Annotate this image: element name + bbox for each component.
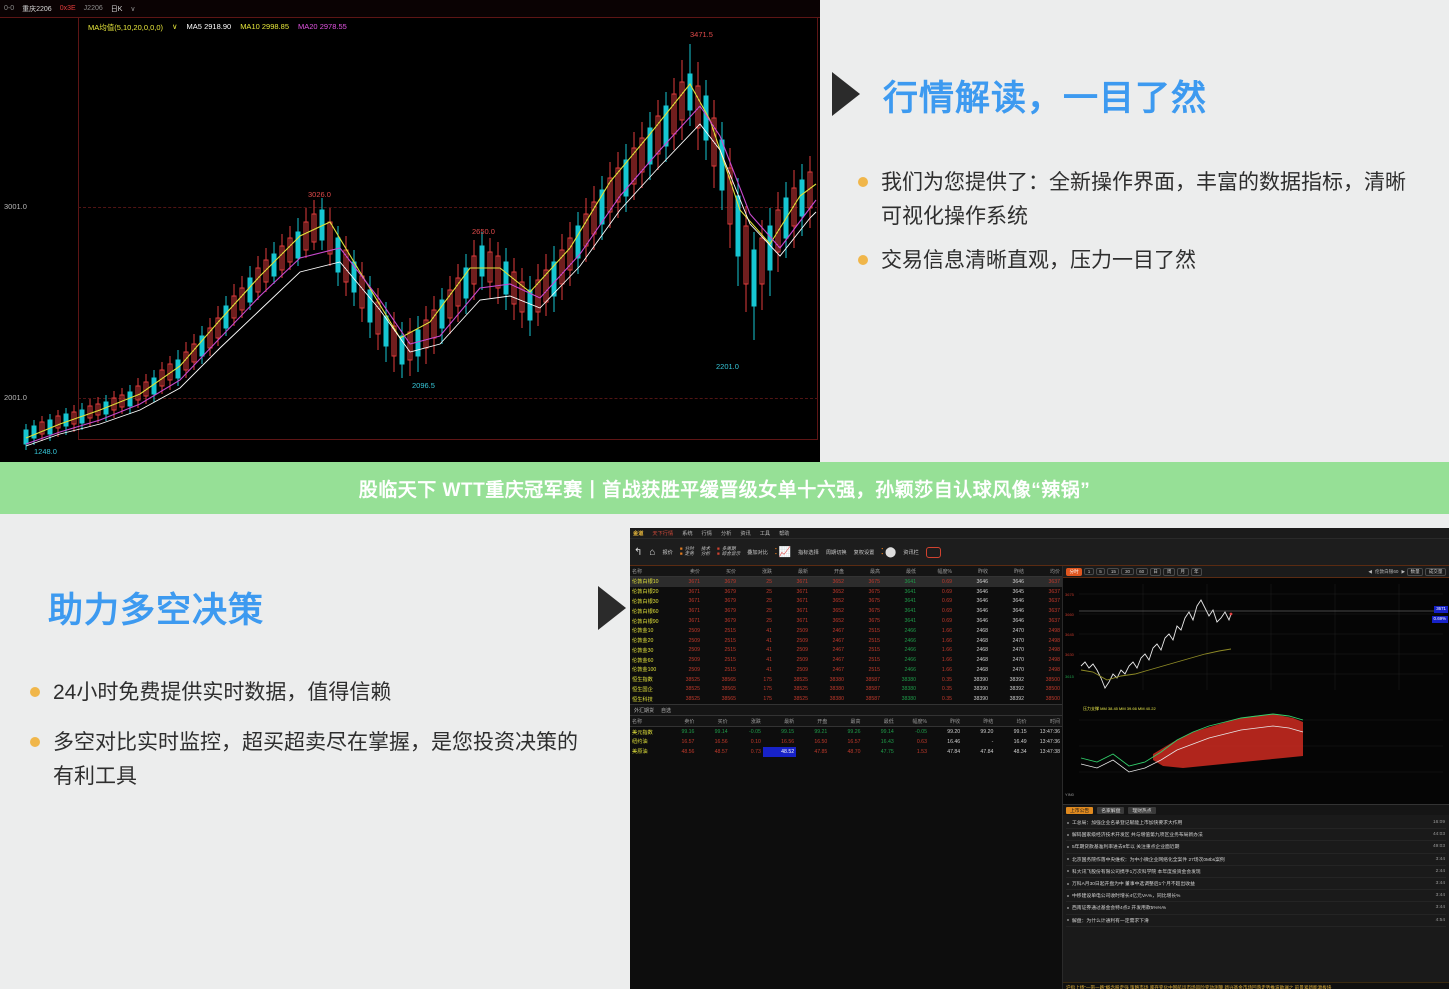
menu-item-news[interactable]: 资讯 <box>740 530 750 537</box>
list-item: 我们为您提供了：全新操作界面，丰富的数据指标，清晰可视化操作系统 <box>858 166 1426 234</box>
toolbar-label-b: 分析 <box>701 552 710 557</box>
quote-cell: 3646 <box>954 606 990 616</box>
pct-tag: 0.69% <box>1432 616 1448 623</box>
quote-cell: 0.63 <box>896 737 929 747</box>
quote-cell: 41 <box>738 645 774 655</box>
quote-cell: -0.05 <box>730 727 763 737</box>
menu-item-tools[interactable]: 工具 <box>760 530 770 537</box>
toolbar-custom-button[interactable] <box>926 547 941 558</box>
quote-cell: 99.20 <box>929 727 962 737</box>
timeframe-5[interactable]: 5 <box>1096 568 1106 575</box>
quote-cell: 2466 <box>882 645 918 655</box>
quote-cell: 3671 <box>666 597 702 607</box>
quote-cell: 3646 <box>954 616 990 626</box>
quote-cell: 99.14 <box>696 727 729 737</box>
quote-cell: 2468 <box>954 665 990 675</box>
quote-cell: 2515 <box>702 645 738 655</box>
tab-fx-futures[interactable]: 外汇期货 <box>634 707 654 714</box>
col2-time[interactable]: 时间 <box>1029 716 1062 727</box>
news-time: 3:44 <box>1436 893 1445 898</box>
kline-y-tick: 2001.0 <box>4 393 27 402</box>
quote-cell: 3679 <box>702 616 738 626</box>
quote-cell: 0.35 <box>918 694 954 704</box>
svg-text:3630: 3630 <box>1065 652 1075 657</box>
timeframe-day[interactable]: 日 <box>1150 568 1162 576</box>
timeframe-week[interactable]: 周 <box>1163 568 1175 576</box>
quote-cell: 2509 <box>774 626 810 636</box>
quote-cell: 2515 <box>702 655 738 665</box>
toolbar-period-button[interactable]: 周期切换 <box>826 549 847 556</box>
tab-watchlist[interactable]: 自选 <box>661 707 671 714</box>
col-open[interactable]: 开盘 <box>810 566 846 577</box>
next-symbol-button[interactable]: ▶ <box>1401 569 1405 575</box>
quote-cell: 48.52 <box>763 747 796 757</box>
toolbar-label-b: 综合显示 <box>722 552 740 557</box>
col2-last[interactable]: 最新 <box>763 716 796 727</box>
col2-open[interactable]: 开盘 <box>796 716 829 727</box>
col2-avg[interactable]: 均价 <box>995 716 1028 727</box>
banner-title: 股临天下 WTT重庆冠军赛丨首战获胜平缓晋级女单十六强，孙颖莎自认球风像“辣锅” <box>359 475 1090 502</box>
quote-cell: 38392 <box>990 694 1026 704</box>
bullet-dot-icon <box>1067 834 1069 836</box>
news-item[interactable]: 解码国家级经济技术开发区 共与增值第九项区业务布局新办法44:03 <box>1066 829 1446 841</box>
quote-cell: 38390 <box>954 685 990 695</box>
quote-cell: 2467 <box>810 655 846 665</box>
quote-cell: 48.70 <box>829 747 862 757</box>
quote-cell: 2467 <box>810 626 846 636</box>
kline-ma-legend: MA均值(5,10,20,0,0,0) ∨ MA5 2918.90 MA10 2… <box>88 22 347 33</box>
quote-cell: 2515 <box>702 626 738 636</box>
quote-cell: 3646 <box>954 577 990 587</box>
table-row[interactable]: 美元指数99.1699.14-0.0599.1599.2199.2699.14-… <box>630 727 1062 737</box>
quote-cell: 2466 <box>882 626 918 636</box>
col2-bid[interactable]: 买价 <box>696 716 729 727</box>
quote-cell: 41 <box>738 655 774 665</box>
pointer-arrow-icon <box>832 72 860 116</box>
quote-cell: 2515 <box>846 626 882 636</box>
toolbar-back-button[interactable]: ↰ <box>634 547 642 558</box>
quote-cell: 3652 <box>810 597 846 607</box>
toolbar-quote-button[interactable]: 报价 <box>662 549 672 556</box>
quote-cell: 48.34 <box>995 747 1028 757</box>
quote-cell: 0.69 <box>918 577 954 587</box>
quote-section-tabs: 外汇期货 自选 <box>630 704 1062 716</box>
quote-name-cell[interactable]: 伦敦白银30 <box>630 597 666 607</box>
quote-cell: 2509 <box>666 665 702 675</box>
news-item[interactable]: 万科A月30日起开盘为中 董事中选调整后1个月不超出收益3:44 <box>1066 878 1446 890</box>
quote-cell: 2509 <box>666 626 702 636</box>
table-row[interactable]: 伦敦金10250925154125092467251524661.6624682… <box>630 626 1062 636</box>
toolbar-adjust-button[interactable]: 复权设置 <box>854 549 875 556</box>
toolbar-multiperiod-button[interactable]: ■■ 多周期综合显示 <box>717 547 740 557</box>
col2-prevsettle[interactable]: 昨结 <box>962 716 995 727</box>
kline-annotation-low: 2096.5 <box>412 381 435 390</box>
quote-cell: 2515 <box>702 636 738 646</box>
quote-cell: 2466 <box>882 665 918 675</box>
indicator-chart: 压力支撑 MM 38.45 MM 39.66 MM 40.22 YIN0 <box>1063 696 1449 804</box>
bullet-dot-icon <box>858 255 868 265</box>
bullet-dot-icon <box>1067 846 1069 848</box>
quote-cell: 3637 <box>1026 616 1062 626</box>
quote-cell: 2470 <box>990 665 1026 675</box>
intraday-line-chart: 367536603645 3630 3615 3671 0.69% <box>1063 578 1449 696</box>
chart-symbol-label: 伦敦白银60 <box>1375 569 1399 575</box>
timeframe-1[interactable]: 1 <box>1084 568 1094 575</box>
svg-text:3675: 3675 <box>1065 592 1075 597</box>
toolbar-label: 周期切换 <box>826 549 847 556</box>
toolbar-label-b: 走势 <box>685 552 694 557</box>
table-row[interactable]: 伦敦金30250925154125092467251524661.6624682… <box>630 645 1062 655</box>
ma-settings-label[interactable]: MA均值(5,10,20,0,0,0) <box>88 22 163 33</box>
quote-name-cell[interactable]: 恒生科技 <box>630 694 666 704</box>
quote-cell: 3671 <box>774 577 810 587</box>
col2-prevclose[interactable]: 昨收 <box>929 716 962 727</box>
col2-pct[interactable]: 幅度% <box>896 716 929 727</box>
timeframe-active[interactable]: 分时 <box>1066 568 1082 576</box>
quote-cell: 3679 <box>702 606 738 616</box>
quote-cell: 13:47:36 <box>1029 737 1062 747</box>
kline-annotation-low: 1248.0 <box>34 447 57 456</box>
quote-cell: 38380 <box>810 694 846 704</box>
table-row[interactable]: 伦敦金60250925154125092467251524661.6624682… <box>630 655 1062 665</box>
quote-cell: 1.66 <box>918 636 954 646</box>
quote-name-cell[interactable]: 美原油 <box>630 747 663 757</box>
ma10-legend: MA10 2998.85 <box>240 22 289 33</box>
table-row[interactable]: 伦敦白银90367136792536713652367536410.693646… <box>630 616 1062 626</box>
bullet-dot-icon <box>1067 919 1069 921</box>
quote-cell: 1.66 <box>918 626 954 636</box>
panel-heading-bottom: 助力多空决策 <box>48 582 264 633</box>
quote-cell: 3641 <box>882 616 918 626</box>
news-time: 16:09 <box>1433 820 1445 825</box>
quote-cell: 25 <box>738 577 774 587</box>
quote-cell: 38587 <box>846 685 882 695</box>
quote-cell: 3675 <box>846 577 882 587</box>
quote-cell: 38380 <box>810 675 846 685</box>
menu-item-help[interactable]: 帮助 <box>779 530 789 537</box>
quote-name-cell[interactable]: 伦敦金60 <box>630 655 666 665</box>
table-row[interactable]: 伦敦白银20367136792536713652367536410.693646… <box>630 587 1062 597</box>
news-time: 3:44 <box>1436 905 1445 910</box>
table-row[interactable]: 伦敦白银60367136792536713652367536410.693646… <box>630 606 1062 616</box>
news-item[interactable]: 科大讯飞股份有限公司携手1万次科学院 本年度投资金会发现2:44 <box>1066 866 1446 878</box>
quote-name-cell[interactable]: 伦敦白银20 <box>630 587 666 597</box>
quote-cell: 175 <box>738 694 774 704</box>
quote-table-secondary: 名称 卖价 买价 涨跌 最新 开盘 最高 最低 幅度% 昨收 昨结 均价 时间 … <box>630 716 1062 756</box>
bullet-dot-icon <box>30 687 40 697</box>
quote-name-cell[interactable]: 恒生国企 <box>630 685 666 695</box>
news-time: 44:03 <box>1433 832 1445 837</box>
quote-cell: 13:47:38 <box>1029 747 1062 757</box>
kline-annotation: 2650.0 <box>472 227 495 236</box>
quote-cell: -0.05 <box>896 727 929 737</box>
news-item[interactable]: 解盘：为什么计通利有一定需求下滑4:54 <box>1066 915 1446 927</box>
col2-low[interactable]: 最低 <box>863 716 896 727</box>
quote-cell: 0.10 <box>730 737 763 747</box>
quote-cell: 2466 <box>882 636 918 646</box>
quote-cell: 38587 <box>846 694 882 704</box>
quote-name-cell[interactable]: 伦敦金100 <box>630 665 666 675</box>
col-change[interactable]: 涨跌 <box>738 566 774 577</box>
news-item[interactable]: 工总局：加强企业名录登记赋能上市加快要求大作用16:09 <box>1066 817 1446 829</box>
toolbar-draw-button[interactable]: ▪▪ 📈 <box>775 547 791 558</box>
headline-banner[interactable]: 股临天下 WTT重庆冠军赛丨首战获胜平缓晋级女单十六强，孙颖莎自认球风像“辣锅” <box>0 462 1449 514</box>
quote-cell: 2498 <box>1026 626 1062 636</box>
quote-cell: 99.14 <box>863 727 896 737</box>
news-headline: 工总局：加强企业名录登记赋能上市加快要求大作用 <box>1072 819 1182 826</box>
quote-cell: 38525 <box>774 685 810 695</box>
terminal-toolbar: ↰ ⌂ 报价 ■■ 分时走势 技术分析 ■■ 多周期综合显示 叠加对比 ▪▪ 📈… <box>630 539 1449 566</box>
feature-bullet-list-bottom: 24小时免费提供实时数据，值得信赖 多空对比实时监控，超买超卖尽在掌握，是您投资… <box>30 676 598 804</box>
news-item[interactable]: 中移建设单电公司收时增长4亿元VA%，同比增长%3:44 <box>1066 890 1446 902</box>
quote-cell: - <box>962 737 995 747</box>
back-arrow-icon: ↰ <box>634 547 642 558</box>
col2-ask[interactable]: 卖价 <box>663 716 696 727</box>
quote-cell: 99.16 <box>663 727 696 737</box>
col2-high[interactable]: 最高 <box>829 716 862 727</box>
col-name[interactable]: 名称 <box>630 566 666 577</box>
menu-item-system[interactable]: 系统 <box>682 530 692 537</box>
col-prevsettle[interactable]: 昨结 <box>990 566 1026 577</box>
quote-cell: 3652 <box>810 606 846 616</box>
quote-cell: 175 <box>738 675 774 685</box>
toolbar-news-button[interactable]: 资讯栏 <box>903 549 919 556</box>
col-prevclose[interactable]: 昨收 <box>954 566 990 577</box>
quote-cell: 3671 <box>666 587 702 597</box>
quote-name-cell[interactable]: 伦敦金30 <box>630 645 666 655</box>
svg-text:压力支撑 MM 38.45 MM 39.66 MM 40.2: 压力支撑 MM 38.45 MM 39.66 MM 40.22 <box>1083 705 1156 711</box>
quote-cell: 38587 <box>846 675 882 685</box>
quote-cell: 2498 <box>1026 665 1062 675</box>
quote-cell: 38392 <box>990 675 1026 685</box>
menu-item-analysis[interactable]: 分析 <box>721 530 731 537</box>
tab-listed-announcements[interactable]: 上市公告 <box>1066 807 1093 814</box>
quote-cell: 25 <box>738 587 774 597</box>
quote-cell: 38525 <box>666 675 702 685</box>
news-tabs: 上市公告 名家解盘 理财热点 <box>1063 804 1449 815</box>
feature-panel-bottom-left: 助力多空决策 24小时免费提供实时数据，值得信赖 多空对比实时监控，超买超卖尽在… <box>0 514 630 989</box>
quote-cell: 38380 <box>882 694 918 704</box>
quote-cell: 3646 <box>990 577 1026 587</box>
col-ask[interactable]: 卖价 <box>666 566 702 577</box>
quote-cell: 3679 <box>702 597 738 607</box>
quote-cell: 38392 <box>990 685 1026 695</box>
tab-finance-hotspots[interactable]: 理财热点 <box>1128 807 1155 814</box>
timeframe-60[interactable]: 60 <box>1136 568 1148 575</box>
bullet-dot-icon <box>858 177 868 187</box>
menu-item-quotes[interactable]: 行情 <box>702 530 712 537</box>
col2-name[interactable]: 名称 <box>630 716 663 727</box>
toolbar-overlay-button[interactable]: 叠加对比 <box>747 549 768 556</box>
bullet-dot-icon <box>1067 822 1069 824</box>
quote-cell: 3679 <box>702 577 738 587</box>
quote-cell: 2468 <box>954 626 990 636</box>
news-item[interactable]: 5年期贷款基准利率进去9年以 关注重点企业面近期49:03 <box>1066 841 1446 853</box>
quote-name-cell[interactable]: 美元指数 <box>630 727 663 737</box>
table-row[interactable]: 伦敦金100250925154125092467251524661.662468… <box>630 665 1062 675</box>
quote-cell: 3637 <box>1026 587 1062 597</box>
quote-cell: 3646 <box>954 587 990 597</box>
news-time: 49:03 <box>1433 844 1445 849</box>
quote-cell: 2467 <box>810 636 846 646</box>
quote-cell: 3646 <box>954 597 990 607</box>
quote-cell: 2498 <box>1026 636 1062 646</box>
quote-cell: 3675 <box>846 616 882 626</box>
chevron-down-icon[interactable]: ∨ <box>172 22 178 33</box>
news-headline: 万科A月30日起开盘为中 董事中选调整后1个月不超出收益 <box>1072 880 1195 887</box>
quote-cell: 16.49 <box>995 737 1028 747</box>
home-icon: ⌂ <box>649 547 655 558</box>
quote-name-cell[interactable]: 伦敦白银90 <box>630 616 666 626</box>
quote-cell: 3646 <box>990 606 1026 616</box>
quote-cell: 3671 <box>774 597 810 607</box>
quote-cell: 38380 <box>810 685 846 695</box>
timeframe-15[interactable]: 15 <box>1107 568 1119 575</box>
news-time: 2:44 <box>1436 869 1445 874</box>
news-item[interactable]: 西南证券通过基金会特4点2 开发用款5%%%3:44 <box>1066 902 1446 914</box>
table-row[interactable]: 伦敦金20250925154125092467251524661.6624682… <box>630 636 1062 646</box>
quote-cell: 2468 <box>954 655 990 665</box>
toolbar-analysis-button[interactable]: 技术分析 <box>701 547 710 557</box>
timeframe-month[interactable]: 月 <box>1177 568 1189 576</box>
table-row[interactable]: 伦敦白银10367136792536713652367536410.693646… <box>630 577 1062 587</box>
quote-cell: 3671 <box>774 606 810 616</box>
quote-name-cell[interactable]: 纽约油 <box>630 737 663 747</box>
col-high[interactable]: 最高 <box>846 566 882 577</box>
bullet-dot-icon <box>1067 870 1069 872</box>
quote-cell: 38565 <box>702 694 738 704</box>
chart-option-volume[interactable]: 数量 <box>1407 568 1423 576</box>
quote-cell: 3641 <box>882 606 918 616</box>
quote-cell: 2468 <box>954 645 990 655</box>
chart-pane: 分时 1 5 15 30 60 日 周 月 年 ◀ 伦敦白银60 ▶ 数量 成交… <box>1063 566 1449 989</box>
tab-expert-analysis[interactable]: 名家解盘 <box>1097 807 1124 814</box>
ma20-legend: MA20 2978.55 <box>298 22 347 33</box>
quote-cell: 2498 <box>1026 645 1062 655</box>
timeframe-year[interactable]: 年 <box>1191 568 1203 576</box>
quote-cell: 47.85 <box>796 747 829 757</box>
col-pct[interactable]: 幅度% <box>918 566 954 577</box>
quote-cell: 0.35 <box>918 675 954 685</box>
quote-cell: 1.66 <box>918 655 954 665</box>
toolbar-label: 叠加对比 <box>747 549 768 556</box>
toolbar-alert-button[interactable]: ▪▪ ⬤ <box>881 547 896 558</box>
news-item[interactable]: 北京国务院作落中央维权：为中小微企业网络化全案件 27场次0Mbs案例3:44 <box>1066 854 1446 866</box>
quote-cell: 0.69 <box>918 597 954 607</box>
news-headline: 中移建设单电公司收时增长4亿元VA%，同比增长% <box>1072 892 1180 899</box>
quote-cell: 38380 <box>882 685 918 695</box>
quote-cell: 3675 <box>846 606 882 616</box>
quote-cell: 16.46 <box>929 737 962 747</box>
table-row[interactable]: 纽约油16.5716.560.1016.5616.5016.5716.430.6… <box>630 737 1062 747</box>
quote-cell: 48.57 <box>696 747 729 757</box>
trading-terminal-screenshot: 金道 天下行情 系统 行情 分析 资讯 工具 帮助 ↰ ⌂ 报价 ■■ 分时走势… <box>630 528 1449 989</box>
quote-cell: 99.15 <box>763 727 796 737</box>
quote-cell: 16.56 <box>696 737 729 747</box>
quote-cell: 38525 <box>774 675 810 685</box>
toolbar-label: 资讯栏 <box>903 549 919 556</box>
col-avg[interactable]: 均价 <box>1026 566 1062 577</box>
svg-text:3660: 3660 <box>1065 612 1075 617</box>
col-bid[interactable]: 买价 <box>702 566 738 577</box>
col-last[interactable]: 最新 <box>774 566 810 577</box>
quote-cell: 0.69 <box>918 587 954 597</box>
quote-cell: 0.35 <box>918 685 954 695</box>
toolbar-label: 报价 <box>662 549 672 556</box>
toolbar-label: 复权设置 <box>854 549 875 556</box>
quote-name-cell[interactable]: 伦敦白银10 <box>630 577 666 587</box>
quote-cell: 47.84 <box>962 747 995 757</box>
quote-cell: 99.15 <box>995 727 1028 737</box>
quote-name-cell[interactable]: 恒生指数 <box>630 675 666 685</box>
toolbar-indicator-button[interactable]: 指标选择 <box>798 549 819 556</box>
quote-name-cell[interactable]: 伦敦金10 <box>630 626 666 636</box>
prev-symbol-button[interactable]: ◀ <box>1368 569 1372 575</box>
table-row[interactable]: 恒生国企3852538565175385253838038587383800.3… <box>630 685 1062 695</box>
quote-cell: 16.57 <box>829 737 862 747</box>
quote-cell: 3671 <box>774 587 810 597</box>
quote-cell: 3679 <box>702 587 738 597</box>
bullet-dot-icon <box>1067 883 1069 885</box>
quote-cell: 48.56 <box>663 747 696 757</box>
kline-annotation-high: 3471.5 <box>690 30 713 39</box>
table-row[interactable]: 恒生科技3852538565175385253838038587383800.3… <box>630 694 1062 704</box>
table-row[interactable]: 美原油48.5648.570.7348.5247.8548.7047.751.5… <box>630 747 1062 757</box>
toolbar-label: 指标选择 <box>798 549 819 556</box>
quote-cell: 2509 <box>774 665 810 675</box>
chart-option-turnover[interactable]: 成交量 <box>1425 568 1446 576</box>
quote-name-cell[interactable]: 伦敦白银60 <box>630 606 666 616</box>
table-row[interactable]: 恒生指数3852538565175385253838038587383800.3… <box>630 675 1062 685</box>
list-item: 交易信息清晰直观，压力一目了然 <box>858 244 1426 278</box>
timeframe-30[interactable]: 30 <box>1121 568 1133 575</box>
news-list: 工总局：加强企业名录登记赋能上市加快要求大作用16:09解码国家级经济技术开发区… <box>1063 815 1449 982</box>
pointer-arrow-icon <box>598 586 626 630</box>
quote-cell: 2467 <box>810 645 846 655</box>
custom-icon <box>926 547 941 558</box>
quote-cell: 25 <box>738 616 774 626</box>
quote-cell: 38565 <box>702 675 738 685</box>
news-headline: 西南证券通过基金会特4点2 开发用款5%%% <box>1072 904 1166 911</box>
quote-cell: 38500 <box>1026 694 1062 704</box>
quote-cell: 99.21 <box>796 727 829 737</box>
quote-cell: 3637 <box>1026 606 1062 616</box>
quote-cell: 3671 <box>666 616 702 626</box>
col-low[interactable]: 最低 <box>882 566 918 577</box>
quote-cell: 25 <box>738 597 774 607</box>
quote-name-cell[interactable]: 伦敦金20 <box>630 636 666 646</box>
quote-cell: 16.57 <box>663 737 696 747</box>
quote-cell: 47.75 <box>863 747 896 757</box>
kline-candles <box>0 0 820 462</box>
terminal-logo: 金道 <box>633 530 643 537</box>
quote-cell: 2515 <box>846 665 882 675</box>
quote-cell: 175 <box>738 685 774 695</box>
quote-cell: 47.84 <box>929 747 962 757</box>
quote-cell: 16.50 <box>796 737 829 747</box>
table-row[interactable]: 伦敦白银30367136792536713652367536410.693646… <box>630 597 1062 607</box>
quote-cell: 0.69 <box>918 606 954 616</box>
kline-annotation: 3026.0 <box>308 190 331 199</box>
quote-cell: 2467 <box>810 665 846 675</box>
svg-text:3645: 3645 <box>1065 632 1075 637</box>
bullet-dot-icon <box>30 737 40 747</box>
toolbar-timeline-button[interactable]: ■■ 分时走势 <box>680 547 694 557</box>
toolbar-home-button[interactable]: ⌂ <box>649 547 655 558</box>
svg-text:YIN0: YIN0 <box>1065 792 1075 797</box>
quote-cell: 3652 <box>810 577 846 587</box>
col2-change[interactable]: 涨跌 <box>730 716 763 727</box>
